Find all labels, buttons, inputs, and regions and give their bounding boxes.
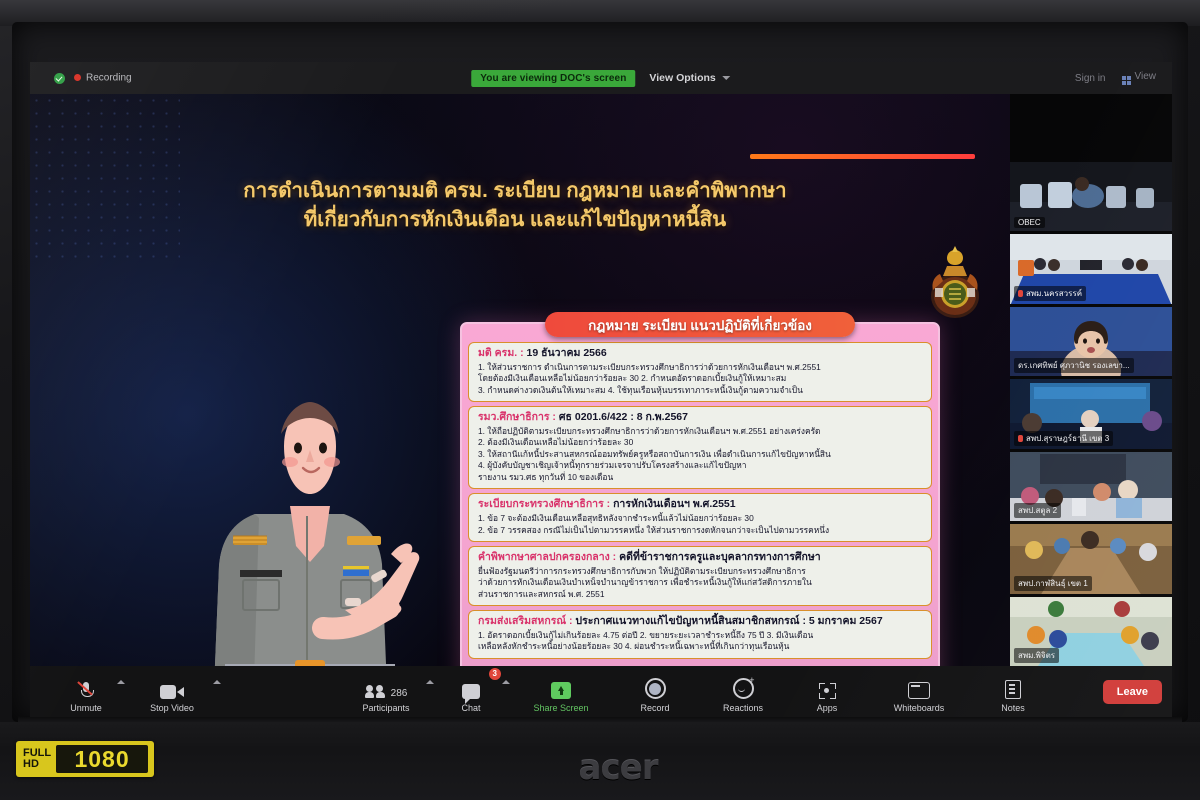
law-card-line: 1. ข้อ 7 จะต้องมีเงินเดือนเหลือสุทธิหลัง… <box>478 513 924 525</box>
participants-label: Participants <box>362 703 409 713</box>
participant-name: สพป.กาฬสินธุ์ เขต 1 <box>1014 576 1092 591</box>
reactions-button[interactable]: Reactions <box>697 670 789 713</box>
participant-name: สพม.พิจิตร <box>1014 648 1059 663</box>
law-card-title: รมว.ศึกษาธิการ : <box>478 411 556 423</box>
law-card-line: 4. ผู้บังคับบัญชาเชิญเจ้าหนี้ทุกรายร่วมเ… <box>478 460 924 472</box>
zoom-bottom-toolbar: Unmute Stop Video 286 Participants 3 Cha… <box>30 666 1172 717</box>
hd-resolution-label: 1080 <box>56 745 148 773</box>
viewing-screen-banner: You are viewing DOC's screen <box>471 70 635 87</box>
apps-button[interactable]: Apps <box>789 670 865 713</box>
participant-strip[interactable]: OBEC สพม.นครสวรรค์ <box>1010 94 1172 666</box>
law-card-line: 2. ข้อ 7 วรรคสอง กรณีไม่เป็นไปตามวรรคหนึ… <box>478 525 924 537</box>
law-card-title: กรมส่งเสริมสหกรณ์ : <box>478 615 573 627</box>
top-bar-right: Sign in View <box>1075 71 1156 85</box>
title-accent-rule <box>750 154 975 159</box>
law-card: คำพิพากษาศาลปกครองกลาง : คดีที่ข้าราชการ… <box>468 546 932 606</box>
stop-video-label: Stop Video <box>150 703 194 713</box>
top-bar-left: Recording <box>30 69 132 87</box>
participant-thumbnail[interactable]: สพป.สุราษฎร์ธานี เขต 3 <box>1010 379 1172 448</box>
mic-muted-icon <box>1018 290 1023 297</box>
law-panel-header: กฎหมาย ระเบียบ แนวปฏิบัติที่เกี่ยวข้อง <box>545 312 855 337</box>
stop-video-button[interactable]: Stop Video <box>124 670 220 713</box>
law-card-subtitle: การหักเงินเดือนฯ พ.ศ.2551 <box>613 498 736 510</box>
law-card-line: ยื่นฟ้องรัฐมนตรีว่าการกระทรวงศึกษาธิการก… <box>478 566 924 578</box>
chat-unread-badge: 3 <box>489 668 501 680</box>
video-options-caret-icon[interactable] <box>213 680 221 684</box>
encryption-shield-icon[interactable] <box>54 73 65 84</box>
reactions-icon <box>733 677 754 699</box>
participant-thumbnail[interactable]: สพม.พิจิตร <box>1010 597 1172 666</box>
laptop-screen: Recording You are viewing DOC's screen V… <box>30 62 1172 717</box>
recording-indicator[interactable]: Recording <box>74 69 132 87</box>
law-card-line: รายงาน รมว.ศธ ทุกวันที่ 10 ของเดือน <box>478 472 924 484</box>
grid-view-icon <box>1122 76 1131 85</box>
leave-button[interactable]: Leave <box>1103 680 1162 704</box>
law-card-subtitle: 19 ธันวาคม 2566 <box>527 347 607 359</box>
unmute-label: Unmute <box>70 703 102 713</box>
unmute-button[interactable]: Unmute <box>48 670 124 713</box>
law-card-line: เหลือหลังหักชำระหนี้อย่างน้อยร้อยละ 30 4… <box>478 641 924 653</box>
apps-label: Apps <box>817 703 838 713</box>
law-panel-header-label: กฎหมาย ระเบียบ แนวปฏิบัติที่เกี่ยวข้อง <box>588 314 812 336</box>
whiteboard-icon <box>908 677 930 699</box>
law-card-subtitle: ประกาศแนวทางแก้ไขปัญหาหนี้สินสมาชิกสหกรณ… <box>575 615 882 627</box>
chat-button[interactable]: 3 Chat <box>433 670 509 713</box>
participants-button[interactable]: 286 Participants <box>339 670 433 713</box>
microphone-muted-icon <box>81 677 92 699</box>
law-card-line: 1. ให้ถือปฏิบัติตามระเบียบกระทรวงศึกษาธิ… <box>478 426 924 438</box>
law-card-line: โดยต้องมีเงินเดือนเหลือไม่น้อยกว่าร้อยละ… <box>478 373 924 385</box>
presentation-slide: การดำเนินการตามมติ ครม. ระเบียบ กฎหมาย แ… <box>30 94 1010 666</box>
full-hd-sticker: FULL HD 1080 <box>16 741 154 777</box>
view-button[interactable]: View <box>1122 71 1157 85</box>
record-icon <box>645 677 666 699</box>
slide-title-line2: ที่เกี่ยวกับการหักเงินเดือน และแก้ไขปัญห… <box>120 205 910 234</box>
law-card-heading: คำพิพากษาศาลปกครองกลาง : คดีที่ข้าราชการ… <box>478 551 924 565</box>
share-screen-icon <box>551 677 571 699</box>
law-card-subtitle: คดีที่ข้าราชการครูและบุคลากรทางการศึกษา <box>619 551 821 563</box>
record-label: Record <box>640 703 669 713</box>
law-card-line: 3. ให้สถานีแก้หนี้ประสานสหกรณ์ออมทรัพย์ค… <box>478 449 924 461</box>
record-dot-icon <box>74 74 81 81</box>
law-card-heading: กรมส่งเสริมสหกรณ์ : ประกาศแนวทางแก้ไขปัญ… <box>478 615 924 629</box>
law-card-heading: รมว.ศึกษาธิการ : ศธ 0201.6/422 : 8 ก.พ.2… <box>478 411 924 425</box>
law-card: ระเบียบกระทรวงศึกษาธิการ : การหักเงินเดื… <box>468 493 932 542</box>
law-card: กรมส่งเสริมสหกรณ์ : ประกาศแนวทางแก้ไขปัญ… <box>468 610 932 659</box>
participants-icon: 286 <box>365 677 408 699</box>
participant-thumbnail-active[interactable]: ดร.เกศทิพย์ ศุภวานิช รองเลขา... <box>1010 307 1172 376</box>
whiteboards-button[interactable]: Whiteboards <box>865 670 973 713</box>
law-card-line: 2. ต้องมีเงินเดือนเหลือไม่น้อยกว่าร้อยละ… <box>478 437 924 449</box>
officer-illustration <box>195 394 425 666</box>
participant-thumbnail[interactable]: สพม.นครสวรรค์ <box>1010 234 1172 303</box>
participant-thumbnail[interactable]: สพป.สตูล 2 <box>1010 452 1172 521</box>
participant-name: สพม.นครสวรรค์ <box>1014 286 1086 301</box>
share-screen-button[interactable]: Share Screen <box>509 670 613 713</box>
law-card-list: มติ ครม. : 19 ธันวาคม 2566 1. ให้ส่วนราช… <box>468 342 932 666</box>
royal-emblem-icon <box>923 244 987 324</box>
participant-thumbnail[interactable]: OBEC <box>1010 162 1172 231</box>
law-card-line: ว่าด้วยการหักเงินเดือนเงินบำเหน็จบำนาญข้… <box>478 577 924 589</box>
participant-name: OBEC <box>1014 217 1045 228</box>
view-label: View <box>1135 71 1157 82</box>
notes-button[interactable]: Notes <box>973 670 1053 713</box>
law-card-line: 1. อัตราดอกเบี้ยเงินกู้ไม่เกินร้อยละ 4.7… <box>478 630 924 642</box>
notes-label: Notes <box>1001 703 1025 713</box>
slide-title: การดำเนินการตามมติ ครม. ระเบียบ กฎหมาย แ… <box>120 176 910 234</box>
apps-icon <box>819 677 836 699</box>
hd-sticker-text: FULL HD <box>16 748 56 770</box>
law-card-line: ส่วนราชการและสหกรณ์ พ.ศ. 2551 <box>478 589 924 601</box>
notes-icon <box>1005 677 1021 699</box>
slide-title-line1: การดำเนินการตามมติ ครม. ระเบียบ กฎหมาย แ… <box>120 176 910 205</box>
shared-screen-stage[interactable]: การดำเนินการตามมติ ครม. ระเบียบ กฎหมาย แ… <box>30 94 1010 666</box>
mic-muted-icon <box>1018 435 1023 442</box>
law-card-title: มติ ครม. : <box>478 347 524 359</box>
share-screen-label: Share Screen <box>533 703 588 713</box>
view-options-label: View Options <box>649 72 715 84</box>
record-button[interactable]: Record <box>613 670 697 713</box>
recording-label: Recording <box>86 72 132 83</box>
law-card-subtitle: ศธ 0201.6/422 : 8 ก.พ.2567 <box>559 411 688 423</box>
sign-in-button[interactable]: Sign in <box>1075 73 1106 84</box>
participant-thumbnail[interactable]: สพป.กาฬสินธุ์ เขต 1 <box>1010 524 1172 593</box>
chevron-down-icon <box>723 76 731 80</box>
reactions-label: Reactions <box>723 703 763 713</box>
participant-name: ดร.เกศทิพย์ ศุภวานิช รองเลขา... <box>1014 358 1134 373</box>
law-card: รมว.ศึกษาธิการ : ศธ 0201.6/422 : 8 ก.พ.2… <box>468 406 932 489</box>
view-options-button[interactable]: View Options <box>649 72 730 84</box>
laptop-photo: Recording You are viewing DOC's screen V… <box>0 0 1200 800</box>
whiteboards-label: Whiteboards <box>894 703 945 713</box>
law-card-line: 3. กำหนดค่างวดเงินต้นให้เหมาะสม 4. ใช้ทุ… <box>478 385 924 397</box>
law-card-line: 1. ให้ส่วนราชการ ดำเนินการตามระเบียบกระท… <box>478 362 924 374</box>
participant-name: สพป.สตูล 2 <box>1014 503 1061 518</box>
chat-label: Chat <box>461 703 480 713</box>
participants-count: 286 <box>391 688 408 699</box>
law-card-heading: ระเบียบกระทรวงศึกษาธิการ : การหักเงินเดื… <box>478 498 924 512</box>
law-card-title: ระเบียบกระทรวงศึกษาธิการ : <box>478 498 610 510</box>
top-bar-center: You are viewing DOC's screen View Option… <box>471 70 730 87</box>
camera-icon <box>160 677 184 699</box>
law-card-heading: มติ ครม. : 19 ธันวาคม 2566 <box>478 347 924 361</box>
law-card-title: คำพิพากษาศาลปกครองกลาง : <box>478 551 616 563</box>
participant-name: สพป.สุราษฎร์ธานี เขต 3 <box>1014 431 1113 446</box>
acer-brand-logo: acer <box>548 748 688 788</box>
chat-icon <box>462 677 480 699</box>
law-card: มติ ครม. : 19 ธันวาคม 2566 1. ให้ส่วนราช… <box>468 342 932 402</box>
zoom-top-bar: Recording You are viewing DOC's screen V… <box>30 62 1172 94</box>
